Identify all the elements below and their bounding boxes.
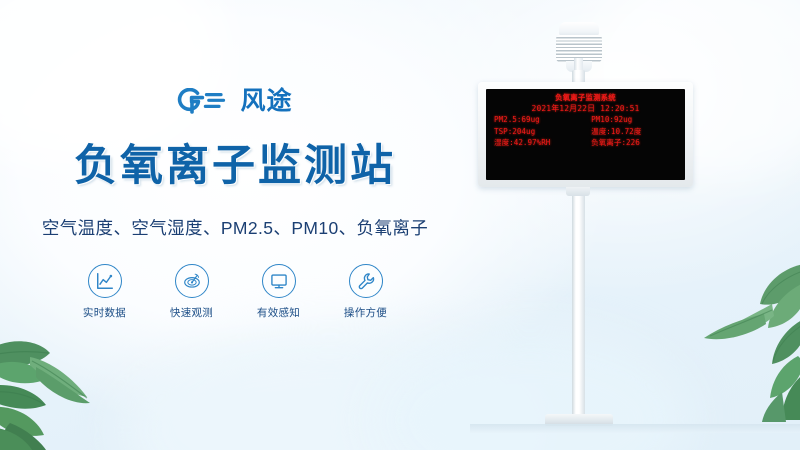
page-subtitle: 空气温度、空气湿度、PM2.5、PM10、负氧离子 <box>42 215 428 240</box>
led-value-negative-oxygen-ion: 负氧离子:226 <box>591 138 679 149</box>
feature-label: 快速观测 <box>170 305 213 320</box>
wrench-icon <box>349 264 383 298</box>
led-data-row: PM2.5:69ug PM10:92ug <box>492 115 679 126</box>
led-screen-datetime: 2021年12月22日 12:20:51 <box>492 103 679 114</box>
feature-label: 实时数据 <box>83 305 126 320</box>
led-screen-title: 负氧离子监测系统 <box>492 93 679 103</box>
ground-line <box>470 424 800 433</box>
led-value-temperature: 温度:10.72度 <box>591 127 679 138</box>
monitoring-station: 负氧离子监测系统 2021年12月22日 12:20:51 PM2.5:69ug… <box>470 0 800 450</box>
led-data-row: TSP:204ug 温度:10.72度 <box>492 127 679 138</box>
monitor-mount-bracket <box>566 187 590 196</box>
led-screen: 负氧离子监测系统 2021年12月22日 12:20:51 PM2.5:69ug… <box>486 89 685 180</box>
led-display-monitor[interactable]: 负氧离子监测系统 2021年12月22日 12:20:51 PM2.5:69ug… <box>478 82 693 187</box>
led-data-row: 湿度:42.97%RH 负氧离子:226 <box>492 138 679 149</box>
led-value-humidity: 湿度:42.97%RH <box>492 138 591 149</box>
feature-item-easy-operation[interactable]: 操作方便 <box>336 264 396 320</box>
feature-list: 实时数据 快速观测 <box>75 264 396 320</box>
feature-label: 操作方便 <box>344 305 387 320</box>
line-chart-icon <box>88 264 122 298</box>
radar-scan-icon <box>175 264 209 298</box>
brand-name: 风途 <box>240 88 292 114</box>
feature-item-effective-sensing[interactable]: 有效感知 <box>249 264 309 320</box>
brand-logo: 风途 <box>177 86 292 116</box>
monitor-icon <box>262 264 296 298</box>
page-title: 负氧离子监测站 <box>74 131 396 193</box>
promo-banner: 风途 负氧离子监测站 空气温度、空气湿度、PM2.5、PM10、负氧离子 实时数… <box>0 0 800 450</box>
led-value-pm10: PM10:92ug <box>591 115 679 126</box>
headline-block: 风途 负氧离子监测站 空气温度、空气湿度、PM2.5、PM10、负氧离子 实时数… <box>0 0 470 450</box>
sensor-cap <box>559 22 599 36</box>
led-value-tsp: TSP:204ug <box>492 127 591 138</box>
led-value-pm25: PM2.5:69ug <box>492 115 591 126</box>
ft-logo-icon <box>177 88 233 114</box>
feature-item-realtime-data[interactable]: 实时数据 <box>75 264 135 320</box>
feature-item-fast-observation[interactable]: 快速观测 <box>162 264 222 320</box>
feature-label: 有效感知 <box>257 305 300 320</box>
